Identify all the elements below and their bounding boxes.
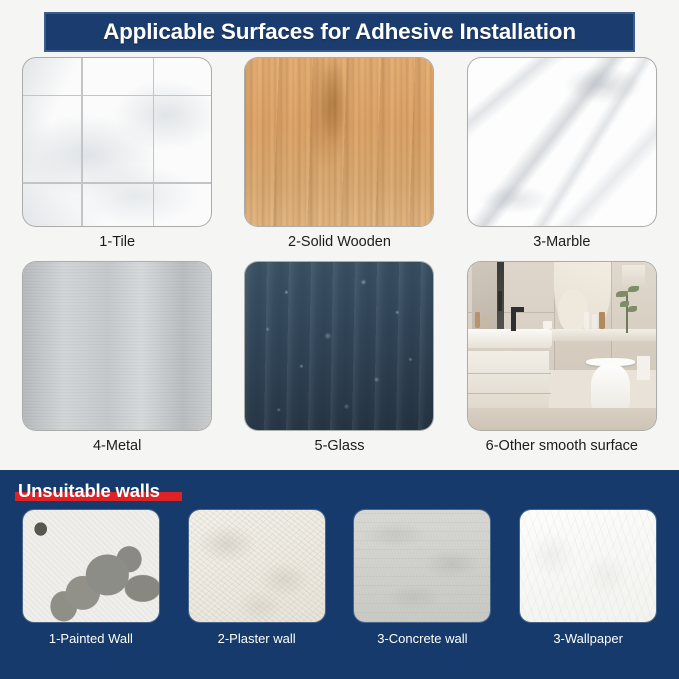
page-title: Applicable Surfaces for Adhesive Install…	[103, 19, 576, 45]
surface-item-metal: 4-Metal	[6, 262, 228, 466]
header-banner: Applicable Surfaces for Adhesive Install…	[44, 12, 635, 52]
unsuitable-label-painted-wall: 1-Painted Wall	[49, 631, 133, 646]
surface-label-solid-wooden: 2-Solid Wooden	[288, 234, 391, 250]
glass-swatch-image	[245, 262, 433, 430]
applicable-surfaces-section: 1-Tile 2-Solid Wooden 3-Marble 4-Metal 5…	[0, 56, 679, 470]
surface-item-solid-wooden: 2-Solid Wooden	[228, 58, 450, 262]
surface-compatibility-infographic: Applicable Surfaces for Adhesive Install…	[0, 0, 679, 679]
unsuitable-walls-section: Unsuitable walls 1-Painted Wall 2-Plaste…	[0, 470, 679, 679]
concrete-wall-swatch-image	[354, 510, 490, 622]
unsuitable-label-plaster-wall: 2-Plaster wall	[218, 631, 296, 646]
solid-wooden-swatch-image	[245, 58, 433, 226]
surface-label-marble: 3-Marble	[533, 234, 590, 250]
applicable-surfaces-grid: 1-Tile 2-Solid Wooden 3-Marble 4-Metal 5…	[0, 56, 679, 470]
unsuitable-label-concrete-wall: 3-Concrete wall	[377, 631, 467, 646]
unsuitable-item-concrete-wall: 3-Concrete wall	[340, 510, 506, 676]
unsuitable-item-wallpaper: 3-Wallpaper	[505, 510, 671, 676]
surface-item-marble: 3-Marble	[451, 58, 673, 262]
plaster-wall-swatch-image	[189, 510, 325, 622]
metal-swatch-image	[23, 262, 211, 430]
unsuitable-walls-grid: 1-Painted Wall 2-Plaster wall 3-Concrete…	[0, 510, 679, 676]
surface-item-tile: 1-Tile	[6, 58, 228, 262]
tile-swatch-image	[23, 58, 211, 226]
surface-label-glass: 5-Glass	[315, 438, 365, 454]
surface-label-other-smooth: 6-Other smooth surface	[486, 438, 638, 454]
surface-item-other-smooth: 6-Other smooth surface	[451, 262, 673, 466]
painted-wall-swatch-image	[23, 510, 159, 622]
unsuitable-walls-heading: Unsuitable walls	[18, 480, 160, 502]
unsuitable-item-painted-wall: 1-Painted Wall	[8, 510, 174, 676]
unsuitable-item-plaster-wall: 2-Plaster wall	[174, 510, 340, 676]
surface-label-metal: 4-Metal	[93, 438, 141, 454]
bathroom-photo-image	[468, 262, 656, 430]
surface-label-tile: 1-Tile	[99, 234, 135, 250]
unsuitable-label-wallpaper: 3-Wallpaper	[553, 631, 623, 646]
wallpaper-swatch-image	[520, 510, 656, 622]
surface-item-glass: 5-Glass	[228, 262, 450, 466]
marble-swatch-image	[468, 58, 656, 226]
unsuitable-walls-heading-text: Unsuitable walls	[18, 480, 160, 502]
